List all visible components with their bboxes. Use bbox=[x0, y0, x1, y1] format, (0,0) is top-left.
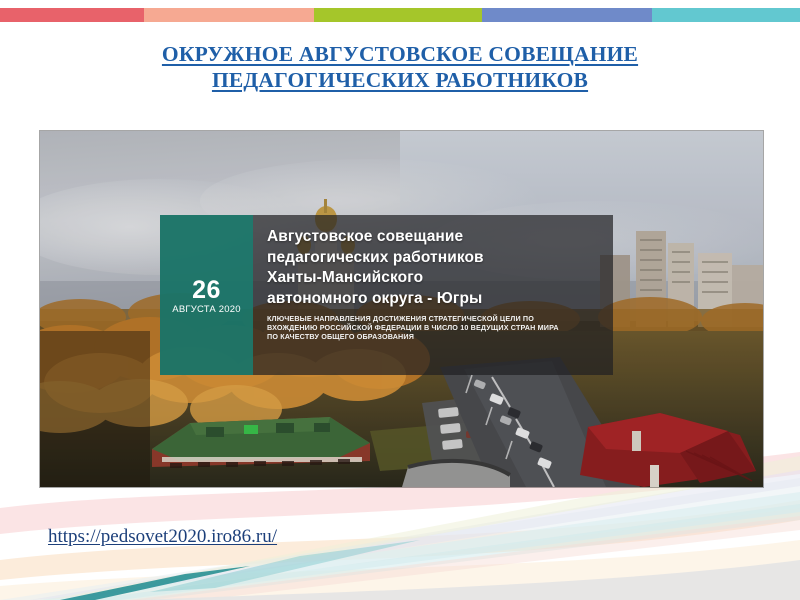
website-link[interactable]: https://pedsovet2020.iro86.ru/ bbox=[48, 526, 277, 548]
color-segment-green bbox=[314, 8, 482, 22]
page-title-line-1: ОКРУЖНОЕ АВГУСТОВСКОЕ СОВЕЩАНИЕ bbox=[60, 41, 740, 67]
color-segment-teal bbox=[652, 8, 800, 22]
banner-overlay-panel: 26 АВГУСТА 2020 Августовское совещание п… bbox=[160, 215, 613, 375]
banner-subtitle-line-3: ПО КАЧЕСТВУ ОБЩЕГО ОБРАЗОВАНИЯ bbox=[267, 332, 603, 341]
page-title-line-2: ПЕДАГОГИЧЕСКИХ РАБОТНИКОВ bbox=[60, 67, 740, 93]
presentation-slide: ОКРУЖНОЕ АВГУСТОВСКОЕ СОВЕЩАНИЕ ПЕДАГОГИ… bbox=[0, 0, 800, 600]
banner-headline-line-2: педагогических работников bbox=[267, 248, 603, 269]
banner-subtitle-line-1: КЛЮЧЕВЫЕ НАПРАВЛЕНИЯ ДОСТИЖЕНИЯ СТРАТЕГИ… bbox=[267, 314, 603, 323]
banner-text-block: Августовское совещание педагогических ра… bbox=[253, 215, 613, 375]
banner-headline-line-1: Августовское совещание bbox=[267, 227, 603, 248]
color-segment-salmon bbox=[144, 8, 314, 22]
banner-photo: 26 АВГУСТА 2020 Августовское совещание п… bbox=[40, 131, 763, 487]
banner-headline-line-3: Ханты-Мансийского bbox=[267, 268, 603, 289]
color-segment-red bbox=[0, 8, 144, 22]
date-badge: 26 АВГУСТА 2020 bbox=[160, 215, 253, 375]
page-title: ОКРУЖНОЕ АВГУСТОВСКОЕ СОВЕЩАНИЕ ПЕДАГОГИ… bbox=[60, 41, 740, 93]
banner-subtitle-line-2: ВХОЖДЕНИЮ РОССИЙСКОЙ ФЕДЕРАЦИИ В ЧИСЛО 1… bbox=[267, 323, 603, 332]
top-color-band bbox=[0, 8, 800, 22]
banner-headline-line-4: автономного округа - Югры bbox=[267, 289, 603, 310]
date-badge-month-year: АВГУСТА 2020 bbox=[172, 304, 240, 316]
date-badge-day: 26 bbox=[192, 277, 221, 303]
banner-subtitle: КЛЮЧЕВЫЕ НАПРАВЛЕНИЯ ДОСТИЖЕНИЯ СТРАТЕГИ… bbox=[267, 314, 603, 342]
banner-headline: Августовское совещание педагогических ра… bbox=[267, 227, 603, 309]
color-segment-blue bbox=[482, 8, 652, 22]
